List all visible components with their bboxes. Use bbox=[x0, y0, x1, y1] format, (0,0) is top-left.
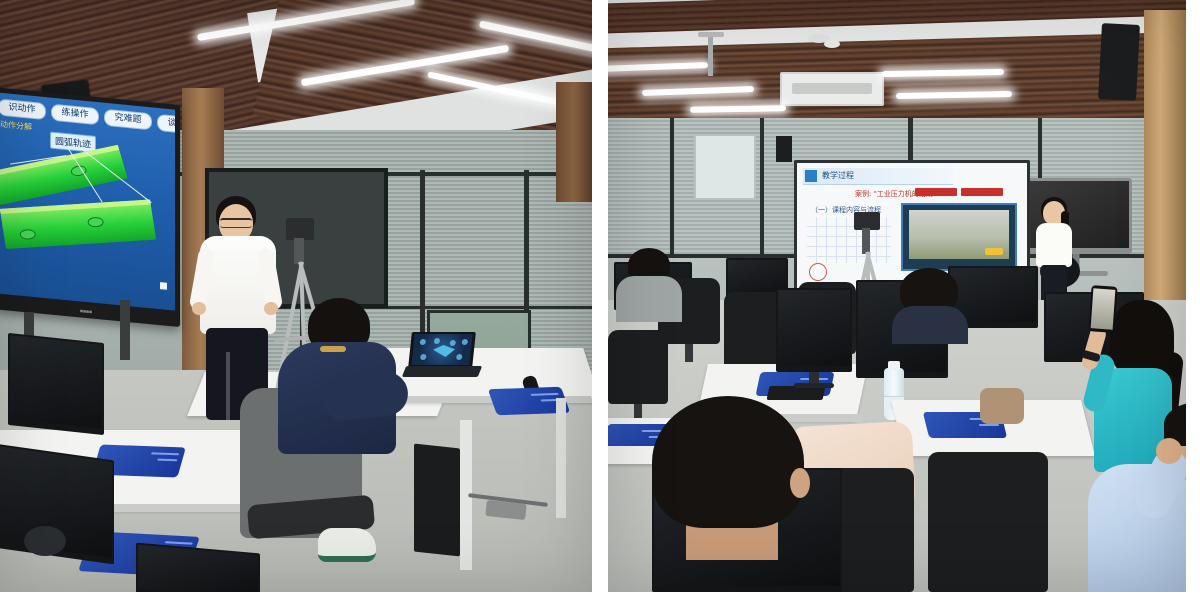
slide-red-button[interactable] bbox=[961, 188, 1003, 196]
bag bbox=[980, 388, 1024, 424]
monitor[interactable] bbox=[776, 288, 852, 372]
instructor-person bbox=[196, 196, 280, 396]
slide-red-button[interactable] bbox=[915, 188, 957, 196]
torso bbox=[892, 306, 968, 344]
student-person bbox=[278, 298, 403, 498]
left-classroom-photo[interactable]: 识动作 练操作 究难题 谈体会 动作分解 圆弧轨迹 bbox=[0, 0, 592, 592]
attendee-person bbox=[892, 268, 970, 338]
whiteboard bbox=[694, 134, 756, 200]
wall-device bbox=[776, 136, 792, 162]
desk-leg bbox=[556, 398, 566, 518]
ac-vent bbox=[780, 72, 884, 106]
smartphone[interactable] bbox=[1088, 285, 1117, 333]
slide-tab[interactable]: 识动作 bbox=[0, 99, 46, 121]
monitor[interactable] bbox=[8, 333, 104, 435]
slide-marker bbox=[160, 282, 167, 290]
office-chair[interactable] bbox=[608, 330, 668, 404]
display-stand-leg bbox=[120, 300, 130, 360]
slide-tab[interactable]: 究难题 bbox=[104, 109, 152, 131]
display-brand-logo: ■■■■ bbox=[80, 308, 92, 315]
slide-header-title: 教学过程 bbox=[822, 170, 854, 181]
slide-subtitle: 动作分解 bbox=[0, 119, 32, 133]
slide-video-panel[interactable] bbox=[901, 203, 1017, 271]
slide-header: 教学过程 bbox=[803, 168, 953, 185]
office-chair[interactable] bbox=[928, 452, 1048, 592]
ceiling-speaker bbox=[1098, 23, 1140, 101]
hair bbox=[652, 396, 804, 528]
wood-column bbox=[556, 82, 592, 202]
trackball-device[interactable] bbox=[24, 526, 66, 556]
instructor-person bbox=[1034, 197, 1074, 301]
slide-tab[interactable]: 谈体会 bbox=[157, 114, 175, 136]
attendee-person bbox=[616, 248, 686, 318]
slide-circle-mark bbox=[809, 263, 827, 281]
desktop-tower bbox=[414, 444, 460, 557]
shoe bbox=[318, 528, 376, 562]
glasses-icon bbox=[220, 218, 252, 228]
right-classroom-photo[interactable]: 教学过程 案例: "工业压力机的组成" （一）课程内容与流程 bbox=[608, 0, 1186, 592]
ceiling-drop-rod bbox=[708, 34, 713, 76]
classroom-display[interactable]: 识动作 练操作 究难题 谈体会 动作分解 圆弧轨迹 bbox=[0, 87, 180, 327]
display-slide: 识动作 练操作 究难题 谈体会 动作分解 圆弧轨迹 bbox=[0, 92, 175, 310]
attendee-person bbox=[1094, 402, 1186, 592]
ear bbox=[790, 468, 810, 498]
slide-tab[interactable]: 练操作 bbox=[51, 104, 99, 126]
torso bbox=[1036, 223, 1072, 267]
cad-model-part bbox=[0, 200, 156, 249]
lanyard bbox=[320, 346, 346, 352]
hair bbox=[1110, 300, 1174, 376]
torso bbox=[616, 276, 682, 322]
laptop[interactable] bbox=[404, 332, 478, 376]
attendee-person bbox=[630, 396, 840, 592]
slide-logo-icon bbox=[805, 170, 817, 182]
photo-collage: 识动作 练操作 究难题 谈体会 动作分解 圆弧轨迹 bbox=[0, 0, 1200, 600]
